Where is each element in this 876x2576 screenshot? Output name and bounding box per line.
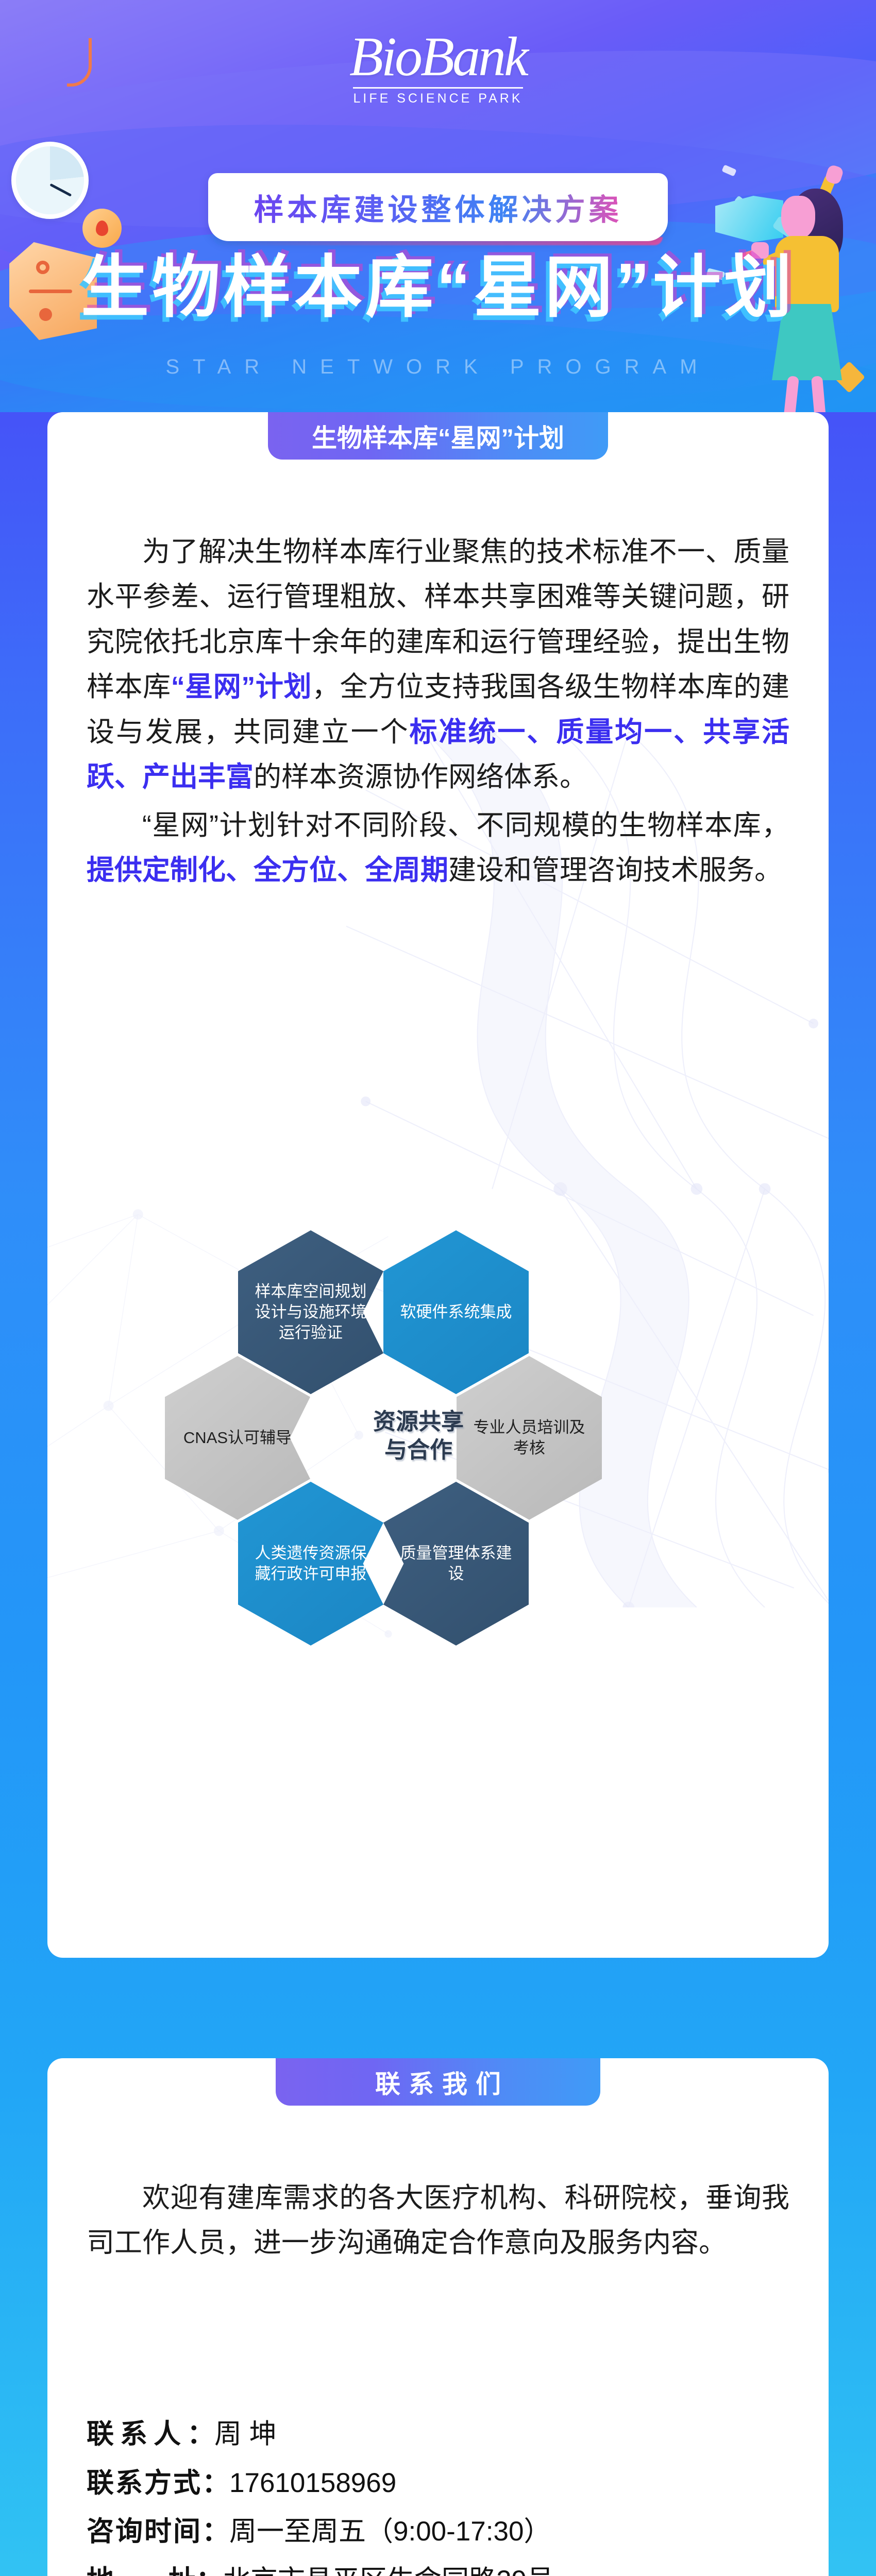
solution-pill: 样本库建设整体解决方案 (208, 173, 668, 241)
logo-wordmark: BioBank (0, 31, 876, 84)
badge-icon (82, 209, 122, 248)
section-plan-card: 生物样本库“星网”计划 为了解决生物样本库行业聚焦的技术标准不一、质量水平参差、… (47, 412, 829, 1958)
person-leg-right (811, 376, 827, 412)
contact-sep: ： (187, 2419, 214, 2449)
section2-intro: 欢迎有建库需求的各大医疗机构、科研院校，垂询我司工作人员，进一步沟通确定合作意向… (87, 2176, 789, 2269)
contact-row-person: 联系人：周 坤 (87, 2414, 798, 2455)
section-contact-card: 联系我们 欢迎有建库需求的各大医疗机构、科研院校，垂询我司工作人员，进一步沟通确… (47, 2058, 829, 2576)
contact-sep: ： (202, 2516, 229, 2547)
clock-face (16, 146, 84, 214)
hexagon-label: CNAS认可辅导 (183, 1428, 292, 1448)
p2-part2: 建设和管理咨询技术服务。 (448, 855, 782, 886)
contact-value: 周一至周五（9:00-17:30） (229, 2516, 551, 2547)
hexagon-label: 软硬件系统集成 (400, 1302, 512, 1323)
contact-row-hours: 咨询时间：周一至周五（9:00-17:30） (87, 2511, 798, 2553)
section2-badge-label: 联系我们 (367, 2064, 509, 2100)
page-title: 生物样本库“星网”计划 (0, 253, 876, 321)
contact-sep: ： (196, 2565, 223, 2576)
section1-badge: 生物样本库“星网”计划 (268, 412, 608, 460)
diagram-center-label: 资源共享 与合作 (315, 1408, 521, 1465)
brand-logo: BioBank LIFE SCIENCE PARK (0, 31, 876, 106)
contact-row-address: 地 址：北京市昌平区生命园路29号 (87, 2560, 798, 2576)
logo-divider (353, 87, 523, 89)
contact-label: 联系方式 (87, 2468, 202, 2498)
contact-label: 咨询时间 (87, 2516, 202, 2547)
center-line-2: 与合作 (315, 1436, 521, 1464)
p2-part1: “星网”计划针对不同阶段、不同规模的生物样本库， (142, 810, 789, 841)
solution-pill-label: 样本库建设整体解决方案 (254, 185, 622, 229)
contact-value[interactable]: 17610158969 (229, 2468, 396, 2498)
contact-label: 联系人 (87, 2419, 187, 2449)
hexagon-label: 样本库空间规划设计与设施环境运行验证 (251, 1281, 370, 1343)
contact-value: 周 坤 (214, 2419, 277, 2449)
page-subtitle: STAR NETWORK PROGRAM (0, 355, 876, 379)
contact-row-phone: 联系方式：17610158969 (87, 2463, 798, 2504)
paragraph-2: “星网”计划针对不同阶段、不同规模的生物样本库，提供定制化、全方位、全周期建设和… (87, 803, 789, 893)
hexagon-label: 人类遗传资源保藏行政许可申报 (251, 1543, 370, 1584)
contact-details: 联系人：周 坤 联系方式：17610158969 咨询时间：周一至周五（9:00… (87, 2414, 798, 2576)
contact-intro-text: 欢迎有建库需求的各大医疗机构、科研院校，垂询我司工作人员，进一步沟通确定合作意向… (87, 2176, 789, 2266)
clock-icon (11, 142, 89, 219)
service-hexagon-diagram: 样本库空间规划设计与设施环境运行验证 软硬件系统集成 CNAS认可辅导 专业人员… (47, 1216, 829, 1906)
p1-highlight-1: “星网”计划 (171, 671, 312, 702)
contact-label: 地 址 (87, 2565, 196, 2576)
page-header: BioBank LIFE SCIENCE PARK 样本库建设整体解决方案 生物… (0, 0, 876, 412)
logo-tagline: LIFE SCIENCE PARK (0, 91, 876, 106)
p1-part3: 的样本资源协作网络体系。 (254, 761, 587, 792)
section1-body: 为了解决生物样本库行业聚焦的技术标准不一、质量水平参差、运行管理粗放、样本共享困… (87, 530, 789, 896)
p2-highlight-1: 提供定制化、全方位、全周期 (87, 855, 448, 886)
paragraph-1: 为了解决生物样本库行业聚焦的技术标准不一、质量水平参差、运行管理粗放、样本共享困… (87, 530, 789, 800)
person-face (781, 196, 815, 239)
contact-value: 北京市昌平区生命园路29号 (223, 2565, 554, 2576)
center-line-1: 资源共享 (315, 1408, 521, 1436)
section2-badge: 联系我们 (276, 2058, 600, 2106)
section1-badge-label: 生物样本库“星网”计划 (312, 418, 564, 454)
hexagon-label: 质量管理体系建设 (397, 1543, 515, 1584)
contact-sep: ： (202, 2468, 229, 2498)
